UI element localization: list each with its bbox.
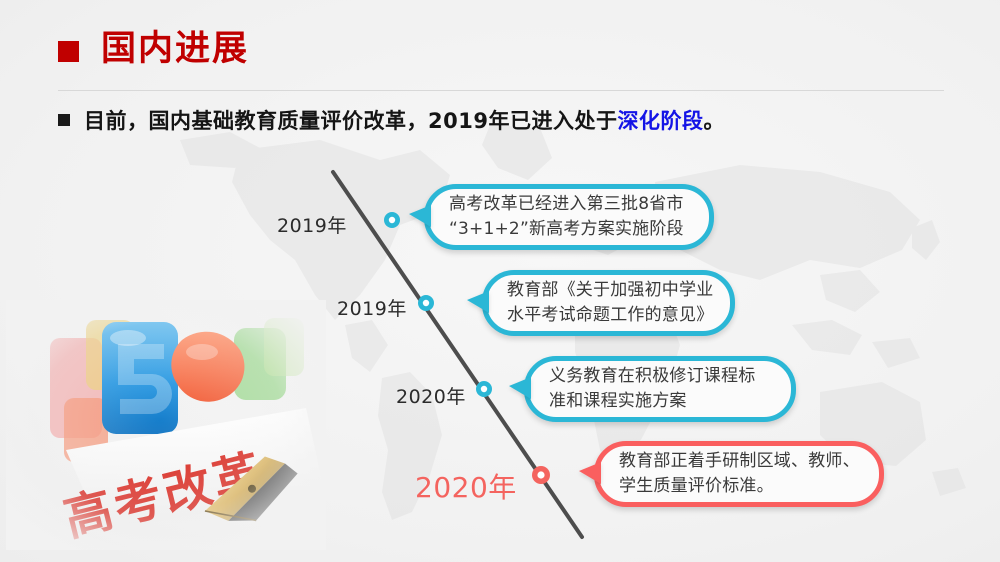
- timeline-year-2: 2019年: [337, 294, 407, 321]
- page-title: 国内进展: [58, 32, 249, 67]
- gaokao-reform-photo: 5 高考改革: [6, 300, 326, 550]
- callout-1-line-1: 高考改革已经进入第三批8省市: [449, 192, 684, 217]
- callout-tail-icon: [409, 205, 431, 227]
- callout-1-line-2: “3+1+2”新高考方案实施阶段: [449, 217, 684, 242]
- callout-3-line-1: 义务教育在积极修订课程标: [549, 364, 755, 389]
- subtitle: 目前，国内基础教育质量评价改革，2019年已进入处于深化阶段。: [58, 105, 725, 135]
- header-divider: [58, 90, 944, 91]
- subtitle-text: 目前，国内基础教育质量评价改革，2019年已进入处于深化阶段。: [84, 105, 725, 135]
- slide-canvas: 国内进展 目前，国内基础教育质量评价改革，2019年已进入处于深化阶段。: [0, 0, 1000, 562]
- timeline-year-1: 2019年: [277, 211, 347, 238]
- subtitle-prefix: 目前，国内基础教育质量评价改革，2019年已进入处于: [84, 109, 617, 133]
- callout-tail-icon: [579, 462, 601, 484]
- red-square-bullet-icon: [58, 41, 79, 62]
- callout-tail-icon: [509, 377, 531, 399]
- subtitle-suffix: 。: [703, 109, 725, 133]
- page-title-text: 国内进展: [101, 32, 249, 67]
- svg-text:高考改革: 高考改革: [59, 444, 271, 548]
- timeline-callout-4[interactable]: 教育部正着手研制区域、教师、 学生质量评价标准。: [594, 441, 884, 507]
- timeline-year-3: 2020年: [396, 382, 466, 409]
- callout-2-line-2: 水平考试命题工作的意见》: [507, 303, 713, 328]
- timeline-callout-2[interactable]: 教育部《关于加强初中学业 水平考试命题工作的意见》: [482, 270, 735, 336]
- subtitle-highlight: 深化阶段: [617, 109, 703, 133]
- timeline-callout-3[interactable]: 义务教育在积极修订课程标 准和课程实施方案: [524, 356, 796, 422]
- callout-1-text: 高考改革已经进入第三批8省市 “3+1+2”新高考方案实施阶段: [449, 192, 684, 241]
- black-square-bullet-icon: [58, 114, 70, 126]
- callout-3-text: 义务教育在积极修订课程标 准和课程实施方案: [549, 364, 755, 413]
- callout-2-text: 教育部《关于加强初中学业 水平考试命题工作的意见》: [507, 278, 713, 327]
- callout-tail-icon: [467, 291, 489, 313]
- callout-3-line-2: 准和课程实施方案: [549, 389, 755, 414]
- callout-4-text: 教育部正着手研制区域、教师、 学生质量评价标准。: [619, 449, 860, 498]
- callout-2-line-1: 教育部《关于加强初中学业: [507, 278, 713, 303]
- timeline-year-4: 2020年: [415, 466, 517, 506]
- callout-4-line-1: 教育部正着手研制区域、教师、: [619, 449, 860, 474]
- callout-4-line-2: 学生质量评价标准。: [619, 474, 860, 499]
- timeline-callout-1[interactable]: 高考改革已经进入第三批8省市 “3+1+2”新高考方案实施阶段: [424, 184, 714, 250]
